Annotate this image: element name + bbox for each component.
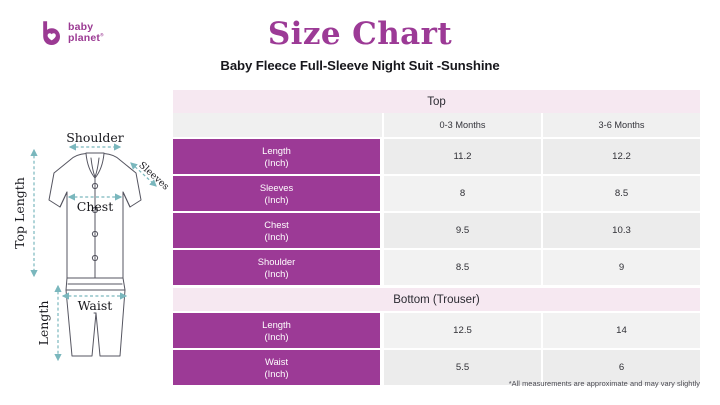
section-title-top: Top <box>173 90 700 113</box>
column-header-0-3-months: 0-3 Months <box>382 113 541 137</box>
illustration-label-waist: Waist <box>78 298 113 313</box>
row-label-name: Waist <box>173 356 380 368</box>
size-table-top: Top 0-3 Months 3-6 Months Length (Inch) … <box>173 90 700 285</box>
cell-bottom-length-3-6: 14 <box>541 311 700 348</box>
row-label-name: Shoulder <box>173 256 380 268</box>
illustration-label-top-length: Top Length <box>12 177 27 249</box>
cell-length-3-6: 12.2 <box>541 137 700 174</box>
table-section-header-row: Bottom (Trouser) <box>173 288 700 311</box>
row-label-unit: (Inch) <box>173 368 380 380</box>
page-subtitle: Baby Fleece Full-Sleeve Night Suit -Suns… <box>0 58 720 73</box>
row-label-unit: (Inch) <box>173 157 380 169</box>
cell-shoulder-0-3: 8.5 <box>382 248 541 285</box>
row-label-name: Sleeves <box>173 182 380 194</box>
table-column-header-row: 0-3 Months 3-6 Months <box>173 113 700 137</box>
row-label-chest: Chest (Inch) <box>173 211 382 248</box>
measurement-disclaimer: *All measurements are approximate and ma… <box>509 379 700 388</box>
row-label-unit: (Inch) <box>173 268 380 280</box>
row-label-length-bottom: Length (Inch) <box>173 311 382 348</box>
row-label-shoulder: Shoulder (Inch) <box>173 248 382 285</box>
table-section-header-row: Top <box>173 90 700 113</box>
table-row: Sleeves (Inch) 8 8.5 <box>173 174 700 211</box>
cell-chest-0-3: 9.5 <box>382 211 541 248</box>
row-label-name: Chest <box>173 219 380 231</box>
size-table-bottom: Bottom (Trouser) Length (Inch) 12.5 14 W… <box>173 288 700 385</box>
row-label-name: Length <box>173 319 380 331</box>
row-label-sleeves: Sleeves (Inch) <box>173 174 382 211</box>
row-label-unit: (Inch) <box>173 231 380 243</box>
illustration-label-chest: Chest <box>77 199 113 214</box>
column-header-blank <box>173 113 382 137</box>
cell-shoulder-3-6: 9 <box>541 248 700 285</box>
row-label-unit: (Inch) <box>173 331 380 343</box>
illustration-label-length: Length <box>36 301 51 346</box>
cell-length-0-3: 11.2 <box>382 137 541 174</box>
cell-chest-3-6: 10.3 <box>541 211 700 248</box>
page-title: Size Chart <box>0 16 720 52</box>
table-row: Chest (Inch) 9.5 10.3 <box>173 211 700 248</box>
garment-measurement-illustration: Shoulder Chest Waist Sleeves Top Length … <box>8 128 173 373</box>
table-row: Length (Inch) 11.2 12.2 <box>173 137 700 174</box>
section-title-bottom: Bottom (Trouser) <box>173 288 700 311</box>
row-label-waist: Waist (Inch) <box>173 348 382 385</box>
illustration-label-shoulder: Shoulder <box>66 130 124 145</box>
illustration-label-sleeves: Sleeves <box>136 160 171 193</box>
table-row: Shoulder (Inch) 8.5 9 <box>173 248 700 285</box>
cell-sleeves-0-3: 8 <box>382 174 541 211</box>
cell-sleeves-3-6: 8.5 <box>541 174 700 211</box>
row-label-length: Length (Inch) <box>173 137 382 174</box>
row-label-name: Length <box>173 145 380 157</box>
column-header-3-6-months: 3-6 Months <box>541 113 700 137</box>
row-label-unit: (Inch) <box>173 194 380 206</box>
cell-bottom-length-0-3: 12.5 <box>382 311 541 348</box>
table-row: Length (Inch) 12.5 14 <box>173 311 700 348</box>
